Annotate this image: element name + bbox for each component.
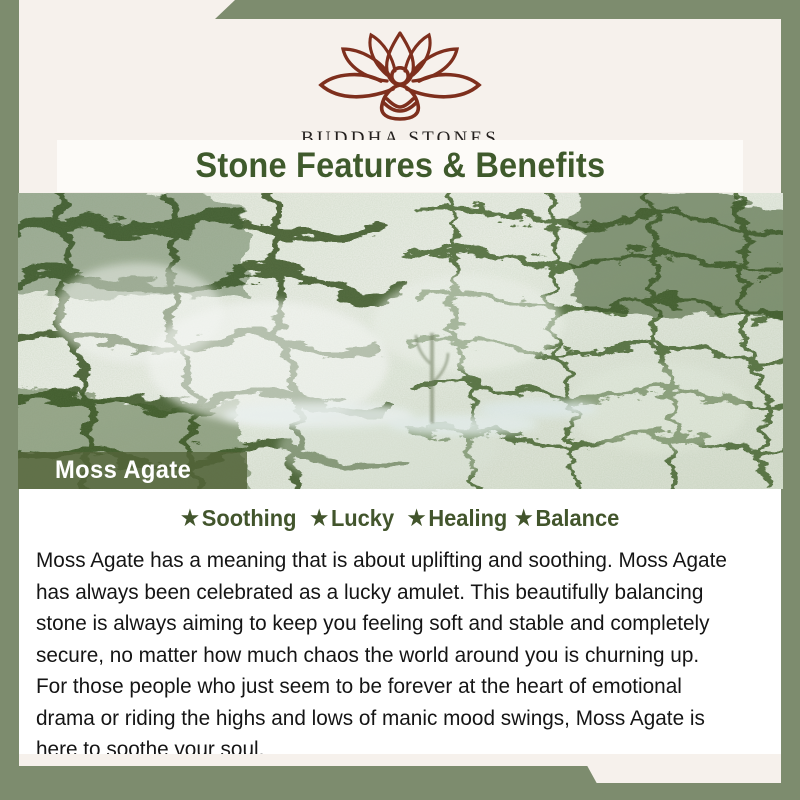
- star-icon: ★: [181, 506, 199, 531]
- lotus-meditation-figure-icon: [305, 29, 495, 126]
- benefits-list: ★ Soothing ★ Lucky ★ Healing ★ Balance: [19, 505, 781, 532]
- star-icon: ★: [310, 506, 328, 531]
- benefit-item: ★ Soothing: [181, 505, 296, 532]
- page-title: Stone Features & Benefits: [195, 146, 605, 186]
- benefit-label: Lucky: [331, 505, 394, 532]
- benefit-label: Balance: [536, 505, 620, 532]
- brand-logo: BUDDHA STONES: [19, 19, 781, 139]
- section-title-bar: Stone Features & Benefits: [57, 140, 743, 192]
- benefit-item: ★ Lucky: [310, 505, 394, 532]
- star-icon: ★: [408, 506, 426, 531]
- stone-name-banner: Moss Agate: [18, 452, 247, 489]
- stone-name: Moss Agate: [55, 456, 191, 485]
- card-bottom-gap: [19, 754, 781, 766]
- benefit-item: ★ Balance: [515, 505, 620, 532]
- benefit-item: ★ Healing: [408, 505, 508, 532]
- benefit-label: Healing: [429, 505, 508, 532]
- frame-band-top: [215, 0, 800, 19]
- frame-band-left: [0, 0, 19, 800]
- content-card: ★ Soothing ★ Lucky ★ Healing ★ Balance M…: [19, 489, 781, 754]
- benefit-label: Soothing: [201, 505, 296, 532]
- stone-description: Moss Agate has a meaning that is about u…: [36, 545, 736, 766]
- frame-band-right: [781, 0, 800, 800]
- moss-agate-stone-photo: [18, 193, 783, 489]
- product-info-card: BUDDHA STONES Stone Features & Benefits: [0, 0, 800, 800]
- star-icon: ★: [515, 506, 533, 531]
- frame-band-bottom: [0, 760, 606, 800]
- header: BUDDHA STONES Stone Features & Benefits: [19, 19, 781, 193]
